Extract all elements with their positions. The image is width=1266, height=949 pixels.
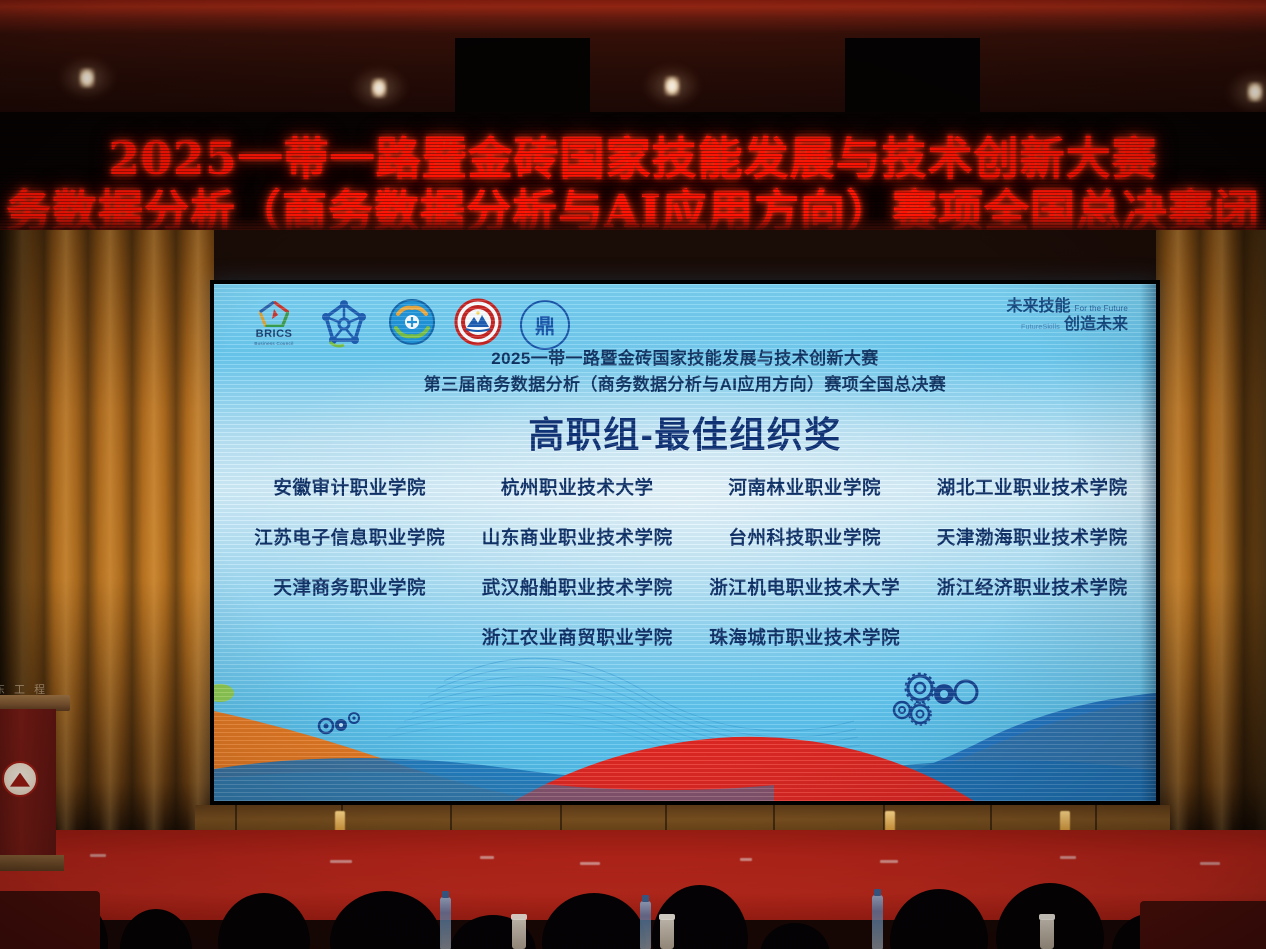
podium-emblem-inner	[10, 773, 30, 787]
red-seal-logo	[454, 298, 502, 351]
star-network-icon	[318, 300, 370, 350]
screen-titles: 2025一带一路暨金砖国家技能发展与技术创新大赛 第三届商务数据分析（商务数据分…	[214, 346, 1156, 399]
school-name: 台州科技职业学院	[691, 524, 919, 550]
brics-sublabel: Business Council	[254, 341, 293, 346]
paper-cup	[512, 919, 526, 949]
school-name: 浙江机电职业技术大学	[691, 574, 919, 600]
future-skills-brand: 未来技能 For the Future FutureSkills 创造未来	[1006, 298, 1128, 335]
school-name: 武汉船舶职业技术学院	[464, 574, 692, 600]
title-line-1: 2025一带一路暨金砖国家技能发展与技术创新大赛	[214, 346, 1156, 372]
brand-cn-top: 未来技能	[1006, 298, 1070, 316]
water-bottle	[872, 895, 883, 949]
ceiling-spotlight	[79, 68, 95, 88]
auditorium-scene: 2025一带一路暨金砖国家技能发展与技术创新大赛 务数据分析（商务数据分析与AI…	[0, 0, 1266, 949]
bottle-cap	[442, 891, 449, 898]
brand-cn-bottom: 创造未来	[1064, 316, 1128, 334]
led-banner: 2025一带一路暨金砖国家技能发展与技术创新大赛 务数据分析（商务数据分析与AI…	[0, 112, 1266, 230]
school-name: 湖北工业职业技术学院	[919, 474, 1147, 500]
bottle-cap	[874, 889, 881, 896]
brics-label: BRICS	[256, 329, 293, 340]
paper-cup	[660, 919, 674, 949]
school-name: 珠海城市职业技术学院	[691, 624, 919, 650]
seat-back	[1140, 901, 1266, 949]
school-name: 河南林业职业学院	[691, 474, 919, 500]
ceiling-panel	[845, 38, 980, 114]
star-network-logo	[318, 300, 370, 350]
red-seal-icon	[454, 298, 502, 346]
curtain-shadow-right	[1214, 230, 1266, 830]
globe-circle-icon	[388, 298, 436, 346]
audience-silhouettes	[0, 829, 1266, 949]
water-bottle	[640, 901, 651, 949]
seat-back	[0, 891, 100, 949]
brand-row-bottom: FutureSkills 创造未来	[1006, 316, 1128, 334]
globe-circle-logo	[388, 298, 436, 351]
ceiling-panel	[455, 38, 590, 114]
paper-cup	[1040, 919, 1054, 949]
ceiling-spotlight	[1247, 82, 1263, 102]
water-bottle	[440, 897, 451, 949]
school-name: 安徽审计职业学院	[236, 474, 464, 500]
gear-cluster-right	[886, 672, 982, 735]
school-name: 浙江农业商贸职业学院	[464, 624, 692, 650]
school-name: 杭州职业技术大学	[464, 474, 692, 500]
audience-head	[542, 893, 646, 949]
school-row: 浙江农业商贸职业学院 珠海城市职业技术学院	[236, 624, 1146, 650]
audience-head	[890, 889, 988, 949]
audience-head	[120, 909, 192, 949]
gear-icon	[314, 706, 370, 740]
gear-cluster-left	[314, 706, 370, 745]
school-name: 江苏电子信息职业学院	[236, 524, 464, 550]
audience-head	[330, 891, 442, 949]
school-name: 浙江经济职业技术学院	[919, 574, 1147, 600]
school-row: 江苏电子信息职业学院 山东商业职业技术学院 台州科技职业学院 天津渤海职业技术学…	[236, 524, 1146, 550]
podium-emblem	[2, 761, 38, 797]
bottle-cap	[642, 895, 649, 902]
cup-lid	[659, 914, 675, 920]
brand-row-top: 未来技能 For the Future	[1006, 298, 1128, 316]
ceiling	[0, 0, 1266, 112]
cup-lid	[511, 914, 527, 920]
award-title: 高职组-最佳组织奖	[214, 406, 1156, 458]
screen-surface: BRICS Business Council	[214, 284, 1156, 801]
ceiling-spotlight	[371, 78, 387, 98]
brand-en-bottom: FutureSkills	[1021, 324, 1060, 332]
blue-ring-glyph: 鼎	[520, 300, 570, 350]
brand-en-top: For the Future	[1075, 304, 1129, 313]
cup-lid	[1039, 914, 1055, 920]
brics-logo: BRICS Business Council	[248, 301, 300, 349]
logo-row: BRICS Business Council	[248, 298, 570, 351]
banner-shade	[0, 216, 1266, 230]
gear-icon	[886, 672, 982, 730]
school-row: 天津商务职业学院 武汉船舶职业技术学院 浙江机电职业技术大学 浙江经济职业技术学…	[236, 574, 1146, 600]
title-line-2: 第三届商务数据分析（商务数据分析与AI应用方向）赛项全国总决赛	[214, 372, 1156, 398]
led-display-screen: BRICS Business Council	[210, 280, 1160, 805]
blue-ring-logo: 鼎	[520, 300, 570, 350]
school-name: 天津商务职业学院	[236, 574, 464, 600]
school-row: 安徽审计职业学院 杭州职业技术大学 河南林业职业学院 湖北工业职业技术学院	[236, 474, 1146, 500]
ceiling-spotlight	[664, 76, 680, 96]
school-name: 山东商业职业技术学院	[464, 524, 692, 550]
audience-head	[760, 923, 830, 949]
screen-edge-shadow	[1140, 284, 1156, 801]
school-name: 天津渤海职业技术学院	[919, 524, 1147, 550]
brics-pentagon-icon	[259, 301, 289, 327]
award-recipient-grid: 安徽审计职业学院 杭州职业技术大学 河南林业职业学院 湖北工业职业技术学院 江苏…	[236, 474, 1146, 674]
audience-head	[218, 893, 310, 949]
